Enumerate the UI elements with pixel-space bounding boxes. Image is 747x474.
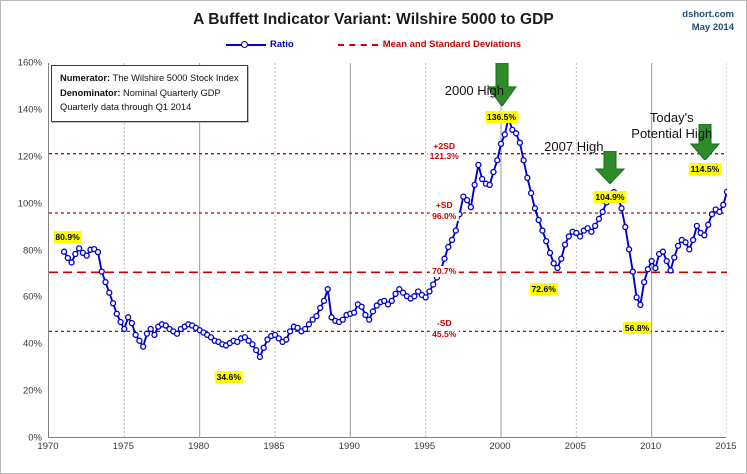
x-tick-label: 2010	[640, 441, 661, 452]
dashed-line-marker-icon	[338, 40, 378, 49]
line-marker-icon	[226, 40, 266, 49]
y-tick-label: 160%	[2, 58, 42, 69]
band-value: 70.7%	[432, 266, 456, 277]
legend-item-ratio: Ratio	[226, 39, 294, 50]
x-tick-label: 1975	[113, 441, 134, 452]
info-numerator-row: Numerator: The Wilshire 5000 Stock Index	[60, 71, 239, 86]
x-tick-label: 1985	[263, 441, 284, 452]
callout-1972-peak: 80.9%	[53, 231, 81, 243]
info-denominator-value: Nominal Quarterly GDP	[123, 88, 221, 98]
source-attribution: dshort.com May 2014	[682, 9, 734, 34]
band-value: 121.3%	[430, 151, 459, 162]
info-box: Numerator: The Wilshire 5000 Stock Index…	[51, 65, 248, 122]
band-label-plus2SD: +2SD121.3%	[428, 141, 461, 162]
band-title: -SD	[432, 318, 456, 329]
band-title: +2SD	[430, 141, 459, 152]
callout-today: 114.5%	[689, 163, 722, 175]
annotation-today-potential-high: Today'sPotential High	[631, 110, 712, 142]
band-value: 45.5%	[432, 329, 456, 340]
y-tick-label: 100%	[2, 198, 42, 209]
legend-label-bands: Mean and Standard Deviations	[383, 39, 521, 50]
x-tick-label: 2005	[565, 441, 586, 452]
source-date: May 2014	[682, 22, 734, 35]
chart-container: A Buffett Indicator Variant: Wilshire 50…	[0, 0, 747, 474]
annotation-2000-high: 2000 High	[445, 83, 504, 99]
x-tick-label: 1995	[414, 441, 435, 452]
x-tick-label: 2000	[489, 441, 510, 452]
x-axis: 1970197519801985199019952000200520102015	[48, 441, 726, 461]
y-tick-label: 120%	[2, 151, 42, 162]
y-tick-label: 140%	[2, 104, 42, 115]
info-numerator-key: Numerator:	[60, 73, 110, 83]
band-value: 96.0%	[432, 211, 456, 222]
legend-item-bands: Mean and Standard Deviations	[338, 39, 521, 50]
callout-2000-high: 136.5%	[485, 111, 518, 123]
callout-2009-low: 56.8%	[623, 322, 651, 334]
callout-1982-low: 34.6%	[215, 371, 243, 383]
x-tick-label: 1980	[188, 441, 209, 452]
down-arrow-icon-2007-high	[595, 151, 625, 184]
band-label-minusSD: -SD45.5%	[430, 318, 458, 339]
y-axis: 160%140%120%100%80%60%40%20%0%	[1, 63, 48, 438]
y-tick-label: 80%	[2, 245, 42, 256]
y-tick-label: 60%	[2, 292, 42, 303]
info-note: Quarterly data through Q1 2014	[60, 100, 239, 115]
x-tick-label: 1970	[37, 441, 58, 452]
legend-label-ratio: Ratio	[270, 39, 294, 50]
callout-2007-high: 104.9%	[593, 191, 626, 203]
annotation-2007-high: 2007 High	[544, 139, 603, 155]
info-denominator-key: Denominator:	[60, 88, 120, 98]
x-tick-label: 1990	[339, 441, 360, 452]
y-tick-label: 40%	[2, 339, 42, 350]
band-label-plusSD: +SD96.0%	[430, 200, 458, 221]
info-denominator-row: Denominator: Nominal Quarterly GDP	[60, 86, 239, 101]
band-title: +SD	[432, 200, 456, 211]
info-numerator-value: The Wilshire 5000 Stock Index	[113, 73, 239, 83]
y-tick-label: 0%	[2, 433, 42, 444]
page-title: A Buffett Indicator Variant: Wilshire 50…	[1, 11, 746, 29]
callout-2002-low: 72.6%	[530, 283, 558, 295]
y-tick-label: 20%	[2, 386, 42, 397]
chart-legend: Ratio Mean and Standard Deviations	[1, 39, 746, 50]
band-label-mean: 70.7%	[430, 266, 458, 277]
source-site: dshort.com	[682, 9, 734, 22]
x-tick-label: 2015	[715, 441, 736, 452]
